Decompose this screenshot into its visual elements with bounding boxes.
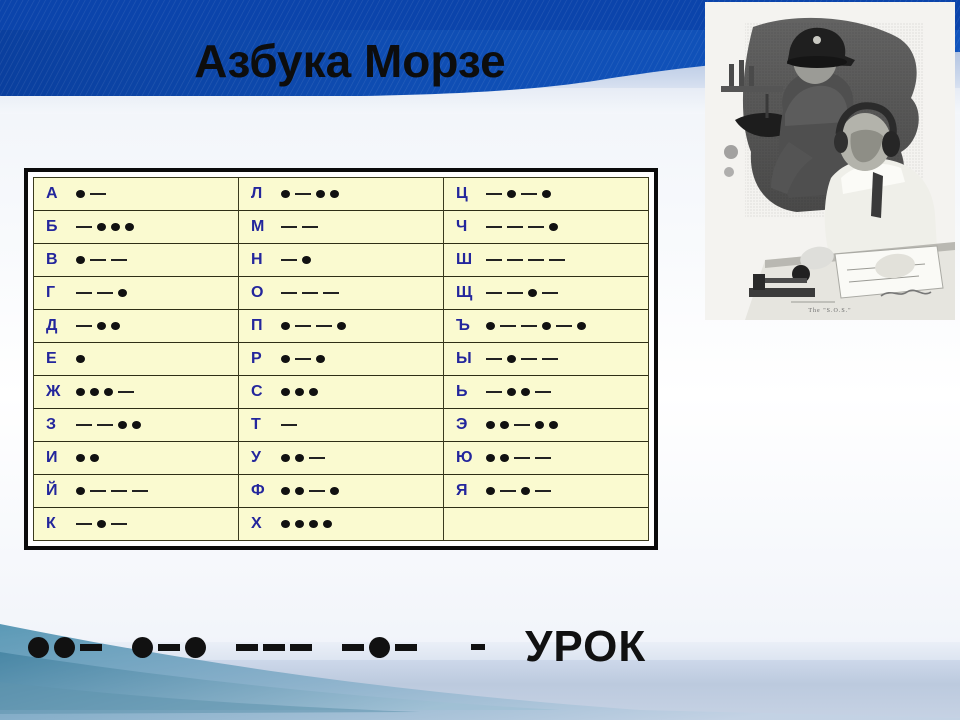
morse-dot [111,223,120,231]
morse-dash [556,325,572,327]
morse-column-2: ЛМНОПРСТУФХ [239,178,444,540]
morse-letter: Т [239,417,277,433]
morse-row-Б: Б [34,211,238,244]
morse-letter: Ю [444,450,482,466]
morse-letter: Ч [444,219,482,235]
morse-row-В: В [34,244,238,277]
morse-code [482,343,558,375]
morse-dash [263,644,285,651]
morse-dash [500,490,516,492]
morse-code [277,244,311,276]
morse-dot [507,355,516,363]
morse-dot [281,190,290,198]
morse-dash [111,259,127,261]
morse-row-У: У [239,442,443,475]
morse-letter: Ь [444,384,482,400]
morse-row-Й: Й [34,475,238,508]
morse-dot [111,322,120,330]
morse-code [482,277,558,309]
morse-letter: Н [239,252,277,268]
morse-code [277,178,339,210]
morse-code [277,508,332,540]
morse-code [72,211,134,243]
morse-dash [521,358,537,360]
morse-column-3: ЦЧШЩЪЫЬЭЮЯ [444,178,648,540]
morse-table-body: АБВГДЕЖЗИЙКЛМНОПРСТУФХЦЧШЩЪЫЬЭЮЯ [33,177,649,541]
bottom-morse-group-О [236,644,312,651]
morse-column-1: АБВГДЕЖЗИЙК [34,178,239,540]
morse-letter: Р [239,351,277,367]
morse-dot [309,520,318,528]
morse-code [72,508,127,540]
morse-dot [97,223,106,231]
morse-row-Г: Г [34,277,238,310]
morse-dot [76,487,85,495]
morse-code [482,409,558,441]
morse-dot [486,322,495,330]
morse-row-О: О [239,277,443,310]
morse-dash [342,644,364,651]
morse-code [277,211,318,243]
morse-row-Ъ: Ъ [444,310,648,343]
morse-dot [28,637,49,658]
bottom-morse-line: УРОК [0,612,960,682]
morse-letter: А [34,186,72,202]
morse-dot [90,388,99,396]
bottom-morse-group-К [342,637,417,658]
morse-row-Ю: Ю [444,442,648,475]
morse-dash [507,226,523,228]
morse-dot [118,421,127,429]
morse-dash [549,259,565,261]
morse-dot [118,289,127,297]
morse-dash [521,193,537,195]
morse-code [72,442,99,474]
morse-dot [330,487,339,495]
morse-dot [521,487,530,495]
morse-letter: Ф [239,483,277,499]
morse-dash [486,358,502,360]
morse-dash [486,292,502,294]
morse-letter: В [34,252,72,268]
morse-dash [514,424,530,426]
morse-dash [158,644,180,651]
morse-dot [507,388,516,396]
morse-dot [549,223,558,231]
morse-dot [486,454,495,462]
morse-dash [97,292,113,294]
morse-dot [90,454,99,462]
morse-letter: Л [239,186,277,202]
morse-row-Е: Е [34,343,238,376]
morse-dash [281,424,297,426]
morse-dash [281,226,297,228]
morse-dot [369,637,390,658]
morse-dot [528,289,537,297]
morse-dot [486,421,495,429]
morse-code [72,409,141,441]
morse-dash [535,391,551,393]
bottom-morse-groups [28,637,417,658]
morse-dash [514,457,530,459]
morse-dash [542,358,558,360]
illustration-caption: The "S.O.S." [705,308,955,314]
morse-row-К: К [34,508,238,540]
morse-dash [500,325,516,327]
morse-row-Д: Д [34,310,238,343]
morse-dash [90,193,106,195]
morse-letter: Г [34,285,72,301]
morse-letter: С [239,384,277,400]
morse-letter: М [239,219,277,235]
morse-letter: Ы [444,351,482,367]
morse-row-Л: Л [239,178,443,211]
morse-letter: Е [34,351,72,367]
morse-code [482,178,551,210]
bottom-morse-group-Р [132,637,206,658]
morse-row-Э: Э [444,409,648,442]
morse-letter: Ж [34,384,72,400]
morse-row-А: А [34,178,238,211]
morse-dot [76,355,85,363]
morse-dot [76,190,85,198]
morse-row-Я: Я [444,475,648,508]
morse-dot [302,256,311,264]
morse-letter: Д [34,318,72,334]
bottom-separator-dash [471,644,485,650]
morse-dash [316,325,332,327]
morse-dot [549,421,558,429]
morse-dash [111,523,127,525]
morse-code [72,310,120,342]
morse-row-Н: Н [239,244,443,277]
bottom-word: УРОК [525,622,646,672]
morse-dot [295,454,304,462]
morse-dot [281,322,290,330]
morse-dot [76,388,85,396]
morse-dash [535,490,551,492]
morse-dot [337,322,346,330]
morse-row-empty [444,508,648,540]
morse-dash [302,292,318,294]
morse-code [482,310,586,342]
morse-dash [521,325,537,327]
morse-dot [316,355,325,363]
morse-dash [76,292,92,294]
morse-dot [535,421,544,429]
morse-dash [97,424,113,426]
morse-letter: И [34,450,72,466]
morse-code [72,343,85,375]
morse-dash [309,457,325,459]
morse-dash [528,259,544,261]
morse-letter: Э [444,417,482,433]
morse-code [72,376,134,408]
morse-dash [323,292,339,294]
morse-row-И: И [34,442,238,475]
morse-dot [542,190,551,198]
morse-dash [295,358,311,360]
morse-dot [281,520,290,528]
morse-code [482,211,558,243]
morse-row-Ш: Ш [444,244,648,277]
morse-dash [309,490,325,492]
morse-code [72,475,148,507]
morse-row-С: С [239,376,443,409]
morse-dash [90,259,106,261]
morse-dot [185,637,206,658]
morse-dot [295,388,304,396]
morse-dot [521,388,530,396]
morse-dash [486,193,502,195]
morse-code [277,475,339,507]
morse-letter: Ц [444,186,482,202]
morse-dash [76,325,92,327]
morse-dot [76,454,85,462]
morse-letter: У [239,450,277,466]
morse-letter: Я [444,483,482,499]
morse-dash [395,644,417,651]
morse-code [72,277,127,309]
morse-row-Ц: Ц [444,178,648,211]
morse-letter: Х [239,516,277,532]
morse-letter: Б [34,219,72,235]
morse-code [72,178,106,210]
morse-dot [281,487,290,495]
morse-dot [577,322,586,330]
morse-code [482,376,551,408]
morse-dash [281,259,297,261]
morse-row-Ч: Ч [444,211,648,244]
morse-code [277,343,325,375]
morse-code [277,310,346,342]
morse-letter: З [34,417,72,433]
morse-alphabet-table: АБВГДЕЖЗИЙКЛМНОПРСТУФХЦЧШЩЪЫЬЭЮЯ [24,168,658,550]
slide-canvas: Азбука Морзе [0,0,960,720]
morse-dot [316,190,325,198]
morse-dot [323,520,332,528]
morse-row-Ы: Ы [444,343,648,376]
morse-code [482,442,551,474]
morse-dash [486,259,502,261]
morse-dot [295,487,304,495]
morse-dash [295,193,311,195]
morse-dot [97,322,106,330]
morse-letter: Щ [444,285,482,301]
morse-row-Ж: Ж [34,376,238,409]
morse-dash [76,523,92,525]
morse-dot [281,454,290,462]
morse-row-З: З [34,409,238,442]
morse-dot [132,421,141,429]
morse-dash [290,644,312,651]
morse-dash [507,259,523,261]
morse-row-Ф: Ф [239,475,443,508]
morse-dot [125,223,134,231]
morse-letter: Ш [444,252,482,268]
morse-dash [528,226,544,228]
morse-row-М: М [239,211,443,244]
morse-dash [486,226,502,228]
morse-code [482,475,551,507]
telegraph-operator-engraving: The "S.O.S." [705,2,955,320]
morse-dash [535,457,551,459]
morse-letter: Ъ [444,318,482,334]
morse-code [277,376,318,408]
morse-dash [236,644,258,651]
morse-row-Х: Х [239,508,443,540]
morse-dash [118,391,134,393]
morse-dash [295,325,311,327]
morse-code [277,409,297,441]
morse-dash [80,644,102,651]
morse-row-Щ: Щ [444,277,648,310]
morse-dot [500,454,509,462]
morse-dot [104,388,113,396]
morse-dot [295,520,304,528]
bottom-morse-group-У [28,637,102,658]
morse-dash [90,490,106,492]
morse-dash [507,292,523,294]
morse-dot [486,487,495,495]
morse-dash [132,490,148,492]
morse-dash [281,292,297,294]
morse-code [72,244,127,276]
morse-letter: П [239,318,277,334]
morse-letter: Й [34,483,72,499]
morse-code [277,442,325,474]
morse-dot [132,637,153,658]
morse-dash [542,292,558,294]
morse-dot [76,256,85,264]
morse-dot [542,322,551,330]
morse-dash [111,490,127,492]
morse-row-П: П [239,310,443,343]
page-title: Азбука Морзе [0,34,700,88]
morse-letter: О [239,285,277,301]
morse-dot [54,637,75,658]
morse-dot [309,388,318,396]
morse-row-Т: Т [239,409,443,442]
morse-dot [507,190,516,198]
morse-row-Р: Р [239,343,443,376]
morse-letter: К [34,516,72,532]
morse-dash [76,226,92,228]
morse-dot [330,190,339,198]
morse-code [482,244,565,276]
morse-code [277,277,339,309]
morse-dash [486,391,502,393]
morse-dot [500,421,509,429]
morse-dot [281,355,290,363]
morse-dash [302,226,318,228]
morse-dot [281,388,290,396]
morse-dash [76,424,92,426]
morse-dot [97,520,106,528]
morse-row-Ь: Ь [444,376,648,409]
